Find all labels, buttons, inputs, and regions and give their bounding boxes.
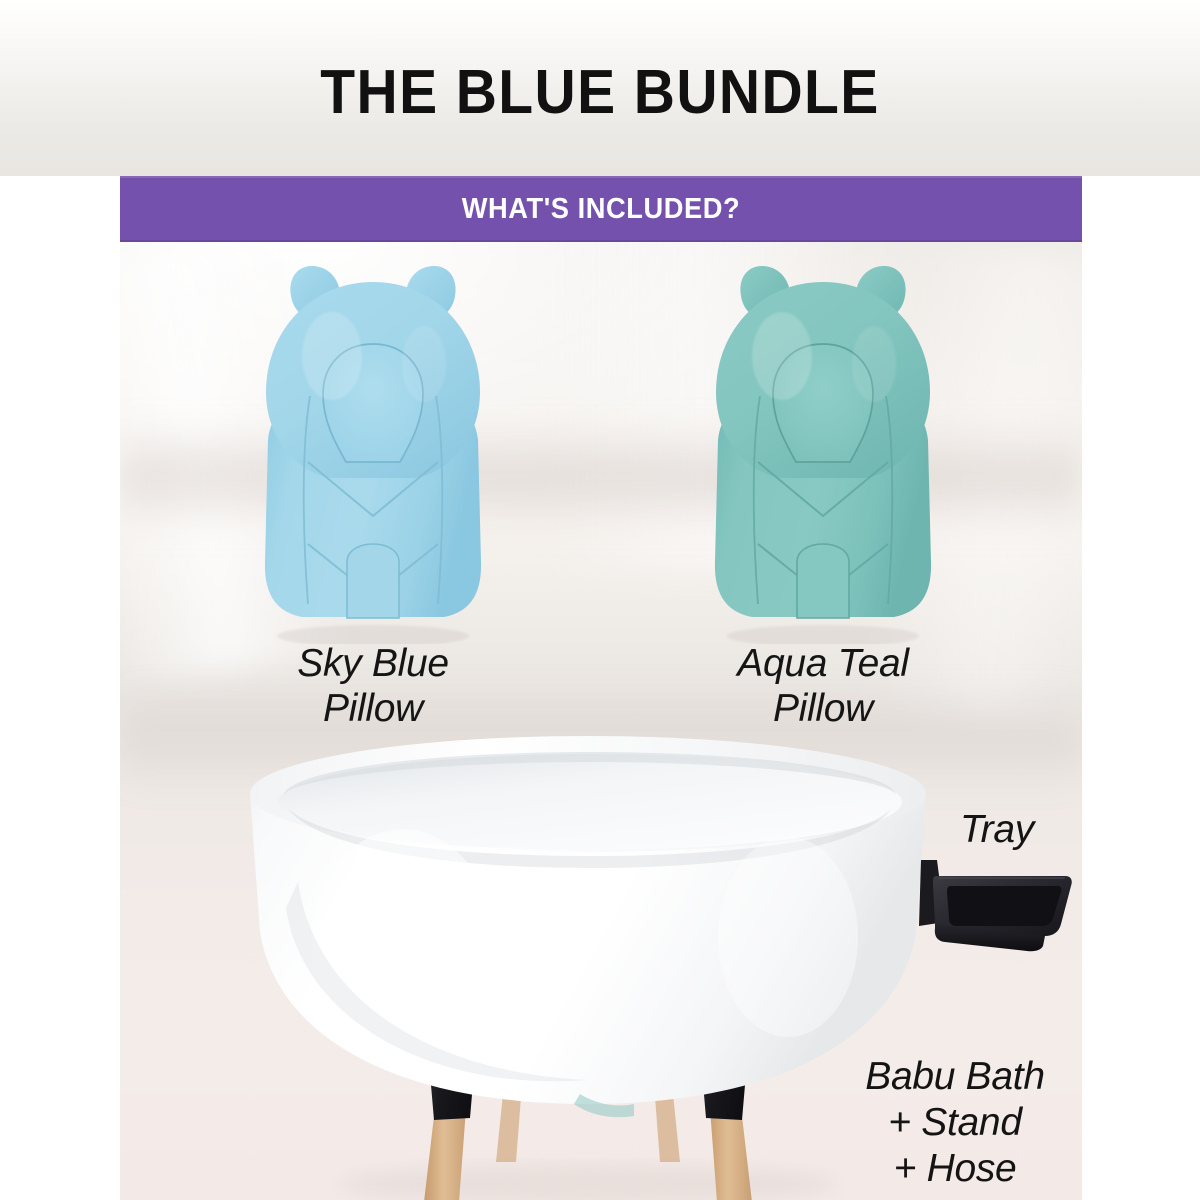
page-title: THE BLUE BUNDLE: [48, 62, 1152, 124]
bath-label-line: + Hose: [820, 1146, 1082, 1192]
banner-label: WHAT'S INCLUDED?: [149, 176, 1053, 242]
tray-icon: [915, 852, 1075, 962]
product-aqua-teal-pillow: [698, 244, 948, 644]
pillow-tab: [347, 544, 399, 618]
caption-line: Pillow: [653, 687, 993, 732]
bath-label-line: + Stand: [820, 1100, 1082, 1146]
caption-line: Sky Blue: [203, 642, 543, 687]
tray-recess: [947, 886, 1061, 926]
babu-bath-label: Babu Bath + Stand + Hose: [820, 1054, 1082, 1192]
pillow-tab: [797, 544, 849, 618]
aqua-teal-pillow-caption: Aqua Teal Pillow: [653, 642, 993, 732]
caption-line: Aqua Teal: [653, 642, 993, 687]
sky-blue-pillow-caption: Sky Blue Pillow: [203, 642, 543, 732]
aqua-teal-pillow-icon: [698, 244, 948, 644]
caption-line: Pillow: [203, 687, 543, 732]
product-sky-blue-pillow: [248, 244, 498, 644]
product-tray: [915, 852, 1075, 962]
sky-blue-pillow-icon: [248, 244, 498, 644]
bath-label-line: Babu Bath: [820, 1054, 1082, 1100]
whats-included-banner: WHAT'S INCLUDED?: [120, 176, 1082, 242]
tray-label: Tray: [960, 808, 1082, 852]
infographic-page: THE BLUE BUNDLE WHAT'S INCLUDED?: [0, 0, 1200, 1200]
product-photo-area: Sky Blue Pillow: [120, 242, 1082, 1200]
